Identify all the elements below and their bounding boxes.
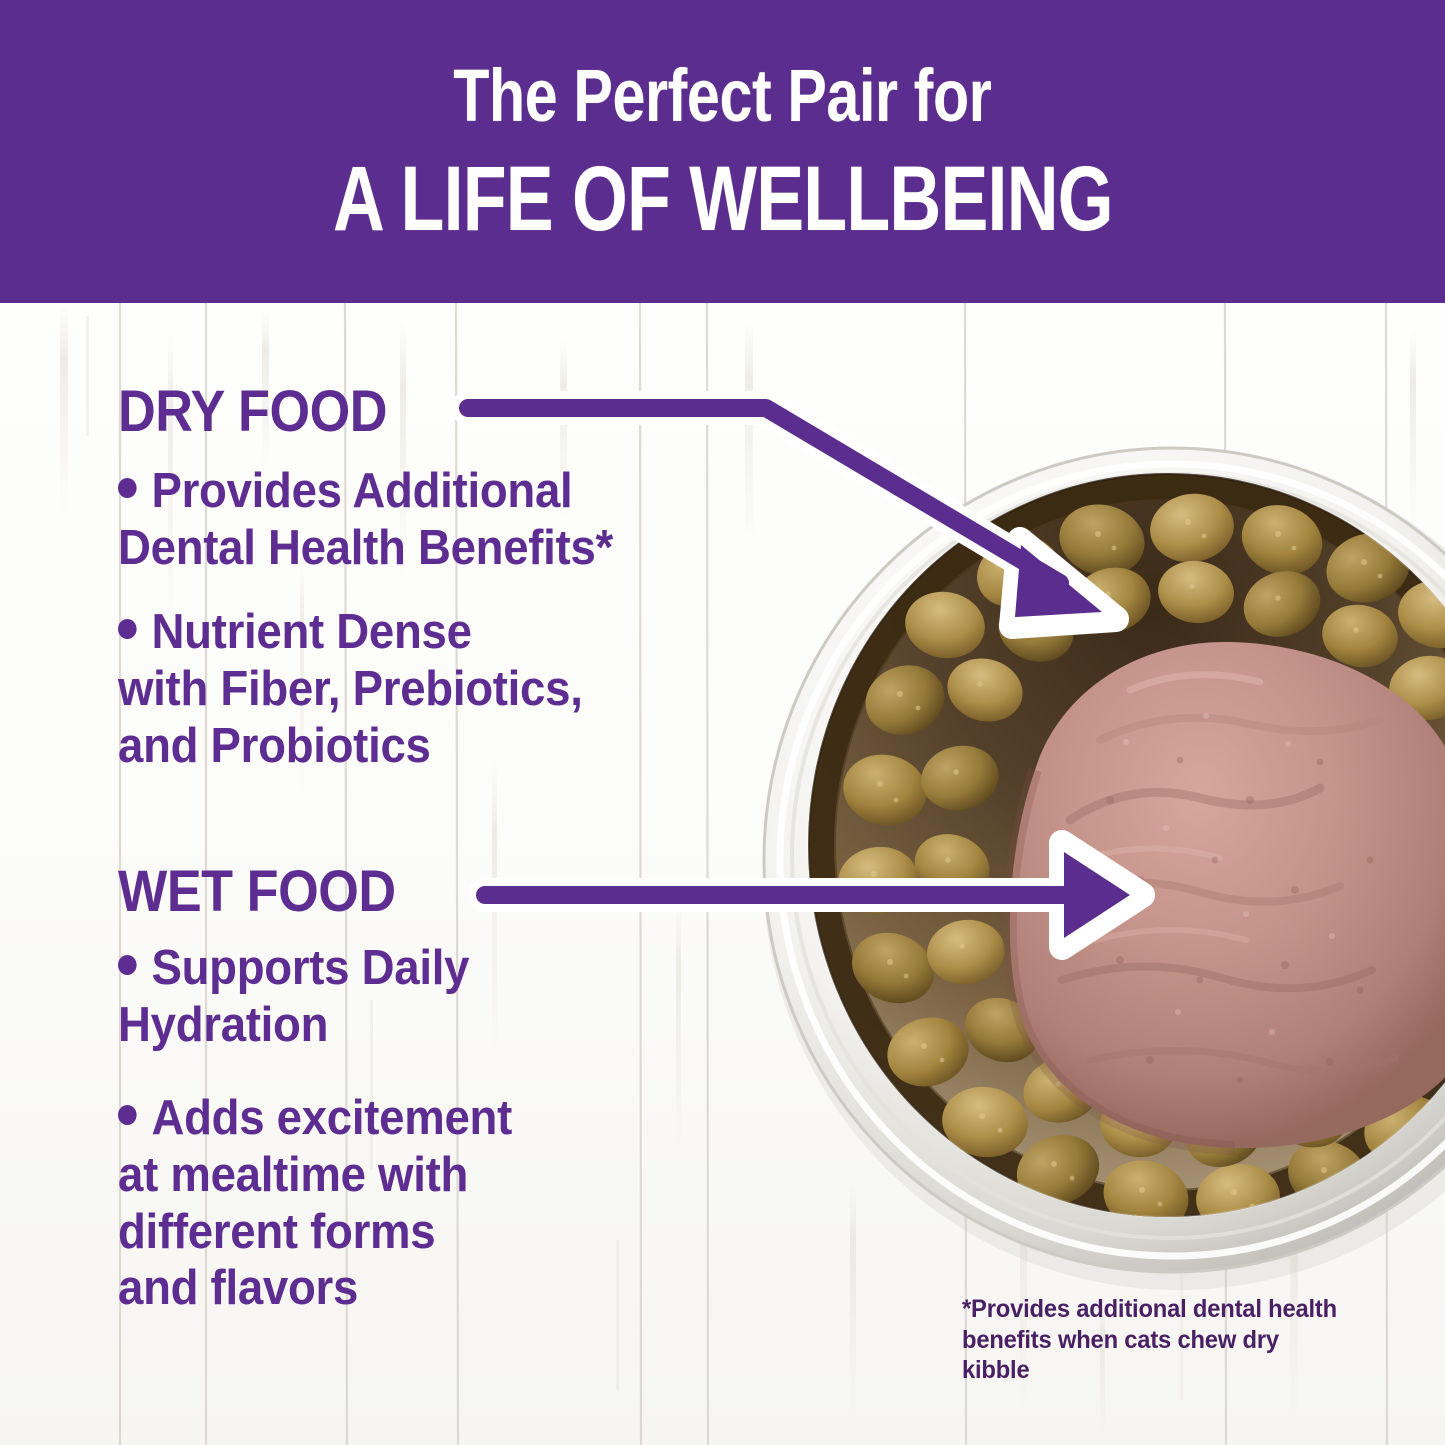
- footnote-line2: benefits when cats chew dry kibble: [962, 1326, 1279, 1385]
- bullet-dry-1-line2: Dental Health Benefits*: [118, 521, 613, 575]
- bullet-wet-2-line1: Adds excitement: [151, 1091, 511, 1145]
- bullet-dry-2: Nutrient Dense with Fiber, Prebiotics, a…: [118, 604, 825, 774]
- bullet-dry-2-line2: with Fiber, Prebiotics,: [118, 662, 583, 716]
- product-infographic: The Perfect Pair for A LIFE OF WELLBEING…: [0, 0, 1445, 1445]
- section-heading-dry-food: DRY FOOD: [118, 383, 387, 441]
- bullet-wet-1-line1: Supports Daily: [151, 941, 469, 995]
- bullet-dry-1-line1: Provides Additional: [151, 464, 572, 518]
- bullet-wet-2-line2: at mealtime with: [118, 1148, 468, 1202]
- bullet-dry-2-line1: Nutrient Dense: [151, 605, 471, 659]
- bullet-dot-icon: [118, 1105, 137, 1125]
- bullet-wet-2-line3: different forms: [118, 1205, 435, 1259]
- bullet-wet-2-line4: and flavors: [118, 1261, 358, 1315]
- bullet-dot-icon: [118, 955, 137, 975]
- bullet-dry-2-line3: and Probiotics: [118, 719, 431, 773]
- footnote-disclaimer: *Provides additional dental health benef…: [962, 1294, 1342, 1386]
- bullet-dot-icon: [118, 478, 137, 498]
- bullet-dot-icon: [118, 619, 137, 639]
- footnote-line1: *Provides additional dental health: [962, 1295, 1337, 1323]
- bullet-wet-1-line2: Hydration: [118, 998, 328, 1052]
- section-heading-wet-food: WET FOOD: [118, 863, 396, 921]
- bullet-wet-2: Adds excitement at mealtime with differe…: [118, 1090, 825, 1317]
- bullet-wet-1: Supports Daily Hydration: [118, 940, 825, 1054]
- wet-food-arrow: [485, 843, 1142, 947]
- bullet-dry-1: Provides Additional Dental Health Benefi…: [118, 463, 825, 577]
